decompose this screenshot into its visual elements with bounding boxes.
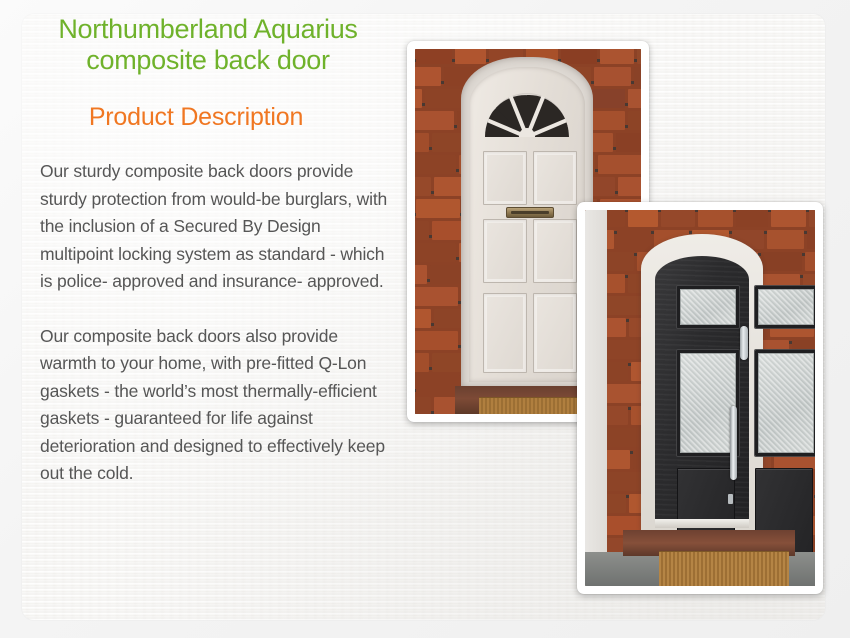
brass-letterbox <box>506 207 554 218</box>
description-paragraph-2: Our composite back doors also provide wa… <box>18 323 398 488</box>
title-line-1: Northumberland Aquarius <box>58 14 357 44</box>
white-door-frame <box>461 57 593 388</box>
chrome-door-handle <box>730 406 737 480</box>
black-door-glass-pane <box>677 286 739 328</box>
fanlight-window <box>485 93 569 137</box>
door-lock-cylinder <box>728 494 733 504</box>
black-door-photo-inner <box>585 210 815 586</box>
black-door-threshold <box>655 519 749 528</box>
white-door-leaf <box>469 67 585 382</box>
slide-canvas: Northumberland Aquarius composite back d… <box>0 0 850 638</box>
white-door-panel <box>533 219 577 283</box>
white-door-panel <box>533 293 577 373</box>
title-line-2: composite back door <box>22 45 394 76</box>
black-door-glass-pane <box>755 350 815 456</box>
chrome-knocker <box>740 326 748 360</box>
black-door-leaf <box>655 256 749 520</box>
black-door-frame <box>641 234 763 530</box>
white-door-panel <box>483 293 527 373</box>
black-door-scene <box>585 210 815 586</box>
text-column: Northumberland Aquarius composite back d… <box>18 14 398 488</box>
black-door-glass-pane <box>755 286 815 328</box>
white-door-panel <box>483 151 527 205</box>
black-door-doormat <box>659 551 789 586</box>
page-title: Northumberland Aquarius composite back d… <box>18 14 398 76</box>
section-heading: Product Description <box>18 102 398 132</box>
white-door-panel <box>483 219 527 283</box>
fanlight-hub <box>519 128 535 137</box>
white-door-panel <box>533 151 577 205</box>
black-door-photo <box>577 202 823 594</box>
white-rendered-wall <box>585 210 607 586</box>
description-paragraph-1: Our sturdy composite back doors provide … <box>18 158 398 296</box>
